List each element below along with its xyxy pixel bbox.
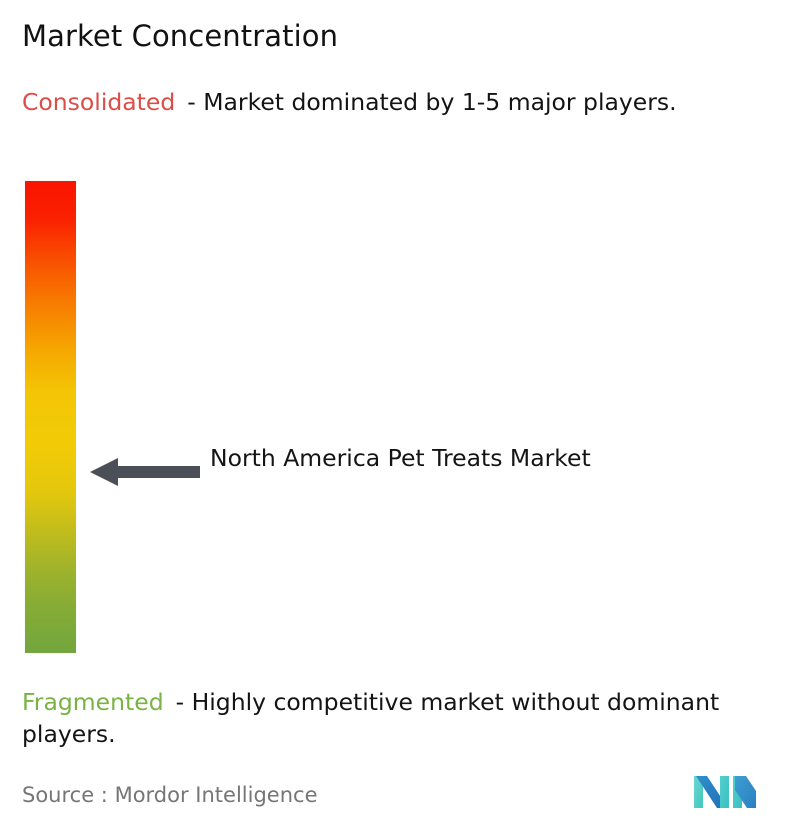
left-arrow-icon [90, 457, 200, 487]
source-label: Source : [22, 783, 108, 807]
legend-fragmented: Fragmented- Highly competitive market wi… [22, 686, 784, 750]
concentration-scale-bar [25, 181, 76, 653]
mordor-intelligence-logo-icon [694, 772, 756, 812]
legend-fragmented-keyword: Fragmented [22, 688, 164, 716]
market-concentration-infographic: Market Concentration Consolidated- Marke… [0, 0, 796, 834]
legend-consolidated-description: - Market dominated by 1-5 major players. [187, 88, 676, 116]
legend-consolidated: Consolidated- Market dominated by 1-5 ma… [22, 86, 772, 118]
source-credit: Source : Mordor Intelligence [22, 781, 317, 809]
market-callout-label: North America Pet Treats Market [210, 441, 630, 476]
legend-consolidated-keyword: Consolidated [22, 88, 175, 116]
source-name: Mordor Intelligence [115, 783, 318, 807]
market-callout: North America Pet Treats Market [90, 441, 750, 505]
page-title: Market Concentration [22, 18, 338, 54]
